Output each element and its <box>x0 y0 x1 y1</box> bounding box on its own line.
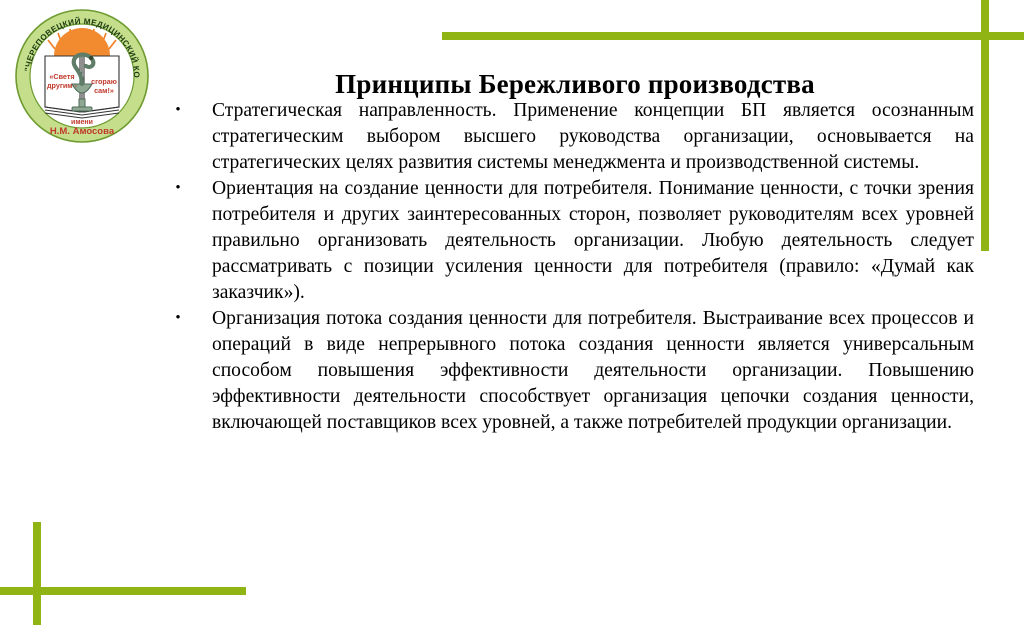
bullet-item: • Ориентация на создание ценности для по… <box>168 176 974 305</box>
decoration-vertical-bar-bottom <box>33 522 41 625</box>
logo-motto-line-3: сгораю <box>91 77 117 86</box>
decoration-vertical-bar-top <box>981 0 989 251</box>
slide-title: Принципы Бережливого производства <box>180 70 970 100</box>
bullet-text: Организация потока создания ценности для… <box>212 306 974 435</box>
presentation-slide: БПОУ ВО "ЧЕРЕПОВЕЦКИЙ МЕДИЦИНСКИЙ КОЛЛЕД… <box>0 0 1024 625</box>
bullet-item: • Стратегическая направленность. Примене… <box>168 98 974 175</box>
college-logo: БПОУ ВО "ЧЕРЕПОВЕЦКИЙ МЕДИЦИНСКИЙ КОЛЛЕД… <box>12 6 152 146</box>
logo-motto-line-4: сам!» <box>94 86 114 95</box>
bullet-marker-icon: • <box>173 176 183 202</box>
logo-motto-line-2: другим - <box>47 81 78 90</box>
bullet-text: Ориентация на создание ценности для потр… <box>212 176 974 305</box>
bullet-list: • Стратегическая направленность. Примене… <box>168 98 974 436</box>
bullet-marker-icon: • <box>173 306 183 332</box>
bullet-text: Стратегическая направленность. Применени… <box>212 98 974 175</box>
logo-motto-line-1: «Светя <box>49 72 74 81</box>
logo-name-line-2: Н.М. Амосова <box>50 126 115 137</box>
bullet-marker-icon: • <box>173 98 183 124</box>
decoration-horizontal-bar-top <box>442 32 1024 40</box>
logo-name-line-1: имени <box>71 119 93 126</box>
bullet-item: • Организация потока создания ценности д… <box>168 306 974 435</box>
